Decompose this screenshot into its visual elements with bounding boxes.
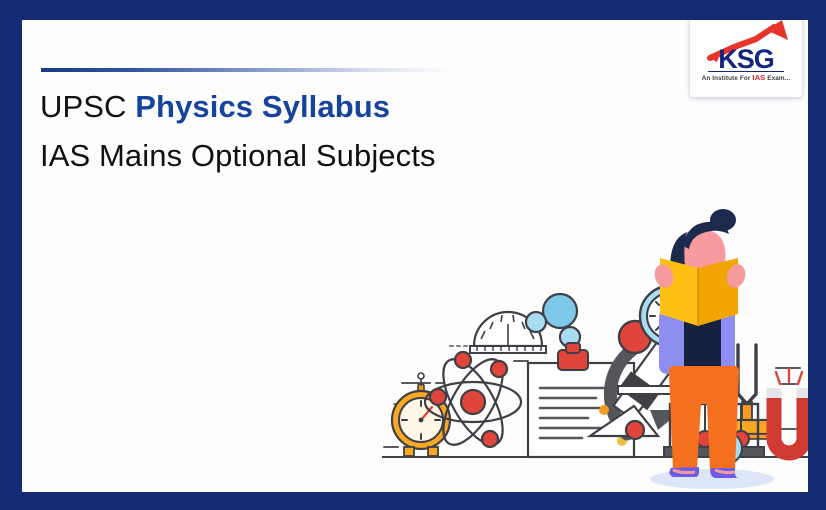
headline-line-1: UPSC Physics Syllabus [40, 82, 640, 131]
tagline-before: An Institute For [702, 75, 753, 82]
ksg-logo[interactable]: KSG An Institute For IAS Exam... [690, 20, 802, 97]
atom-nucleus [461, 390, 485, 414]
tagline-after: Exam... [765, 75, 790, 82]
logo-inner: KSG An Institute For IAS Exam... [690, 20, 802, 97]
gradient-rule [41, 68, 453, 72]
horseshoe-magnet-icon [774, 369, 804, 453]
physics-study-illustration [382, 198, 808, 492]
headline-highlight: Physics Syllabus [135, 89, 390, 124]
logo-divider [708, 71, 784, 72]
tagline-highlight: IAS [752, 73, 765, 82]
headline-line-2: IAS Mains Optional Subjects [40, 131, 640, 180]
logo-tagline: An Institute For IAS Exam... [690, 73, 802, 82]
banner-frame: UPSC Physics Syllabus IAS Mains Optional… [0, 0, 826, 510]
illustration-svg [382, 198, 808, 492]
banner-canvas: UPSC Physics Syllabus IAS Mains Optional… [22, 20, 808, 492]
headline-plain: UPSC [40, 89, 135, 124]
headline-block: UPSC Physics Syllabus IAS Mains Optional… [40, 82, 640, 180]
stopwatch-icon [392, 373, 450, 456]
